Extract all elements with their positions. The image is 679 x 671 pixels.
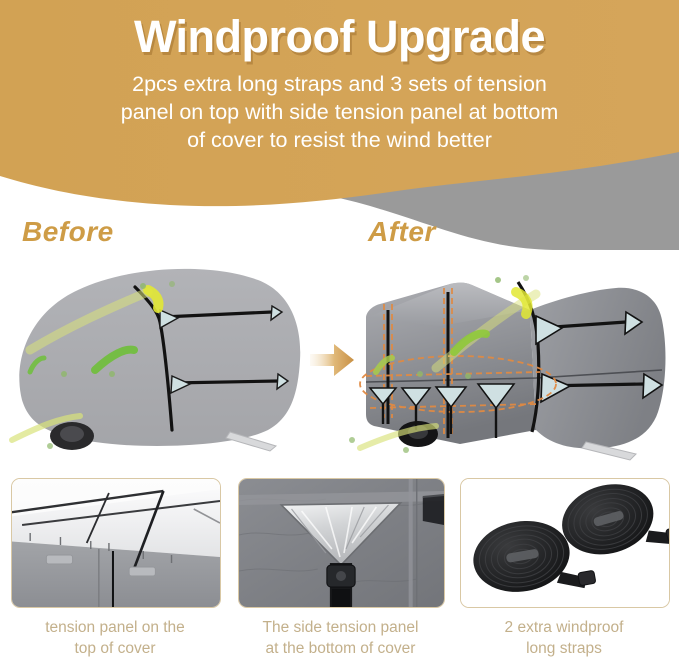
header-subtitle: 2pcs extra long straps and 3 sets of ten…	[40, 70, 640, 154]
caption-3-line-2: long straps	[460, 638, 668, 659]
feature-card-top-tension-panel[interactable]: tension panel on the top of cover	[11, 478, 219, 659]
subtitle-line-1: 2pcs extra long straps and 3 sets of ten…	[40, 70, 640, 98]
wind-dot-4	[169, 281, 175, 287]
after-wind-dot-6	[403, 447, 409, 453]
feature-card-3-caption: 2 extra windproof long straps	[460, 617, 668, 659]
wind-dot-5	[47, 443, 53, 449]
caption-3-line-1: 2 extra windproof	[460, 617, 668, 638]
caption-1-line-2: top of cover	[11, 638, 219, 659]
feature-card-long-straps[interactable]: 2 extra windproof long straps	[460, 478, 668, 659]
windproof-long-straps-photo	[460, 478, 670, 608]
after-wind-dot-2	[465, 373, 471, 379]
before-wheel-hub	[60, 426, 84, 442]
wind-dot-2	[109, 371, 115, 377]
header-text-block: Windproof Upgrade 2pcs extra long straps…	[0, 0, 679, 154]
before-rv-cover-illustration	[0, 250, 320, 465]
subtitle-line-2: panel on top with side tension panel at …	[40, 98, 640, 126]
page-title: Windproof Upgrade	[0, 10, 679, 64]
subtitle-line-3: of cover to resist the wind better	[40, 126, 640, 154]
feature-card-side-tension-panel[interactable]: The side tension panel at the bottom of …	[238, 478, 443, 659]
rv-cover-top-tension-panel-photo	[11, 478, 221, 608]
wind-dot-1	[61, 371, 67, 377]
header-banner: Windproof Upgrade 2pcs extra long straps…	[0, 0, 679, 250]
rv-cover-side-tension-panel-photo	[238, 478, 445, 608]
caption-1-line-1: tension panel on the	[11, 617, 219, 638]
after-label: After	[368, 216, 436, 248]
after-wind-dot-1	[417, 371, 423, 377]
infographic-root: Windproof Upgrade 2pcs extra long straps…	[0, 0, 679, 671]
after-wind-dot-5	[349, 437, 355, 443]
feature-card-2-caption: The side tension panel at the bottom of …	[238, 617, 443, 659]
caption-2-line-2: at the bottom of cover	[238, 638, 443, 659]
feature-card-1-caption: tension panel on the top of cover	[11, 617, 219, 659]
caption-2-line-1: The side tension panel	[238, 617, 443, 638]
wind-dot-3	[140, 283, 146, 289]
after-cover-rear-body	[530, 288, 665, 449]
after-rv-cover-illustration	[340, 248, 679, 470]
before-label: Before	[22, 216, 114, 248]
feature-cards-row: tension panel on the top of cover	[0, 478, 679, 671]
after-wind-dot-4	[523, 275, 529, 281]
after-wind-dot-3	[495, 277, 501, 283]
